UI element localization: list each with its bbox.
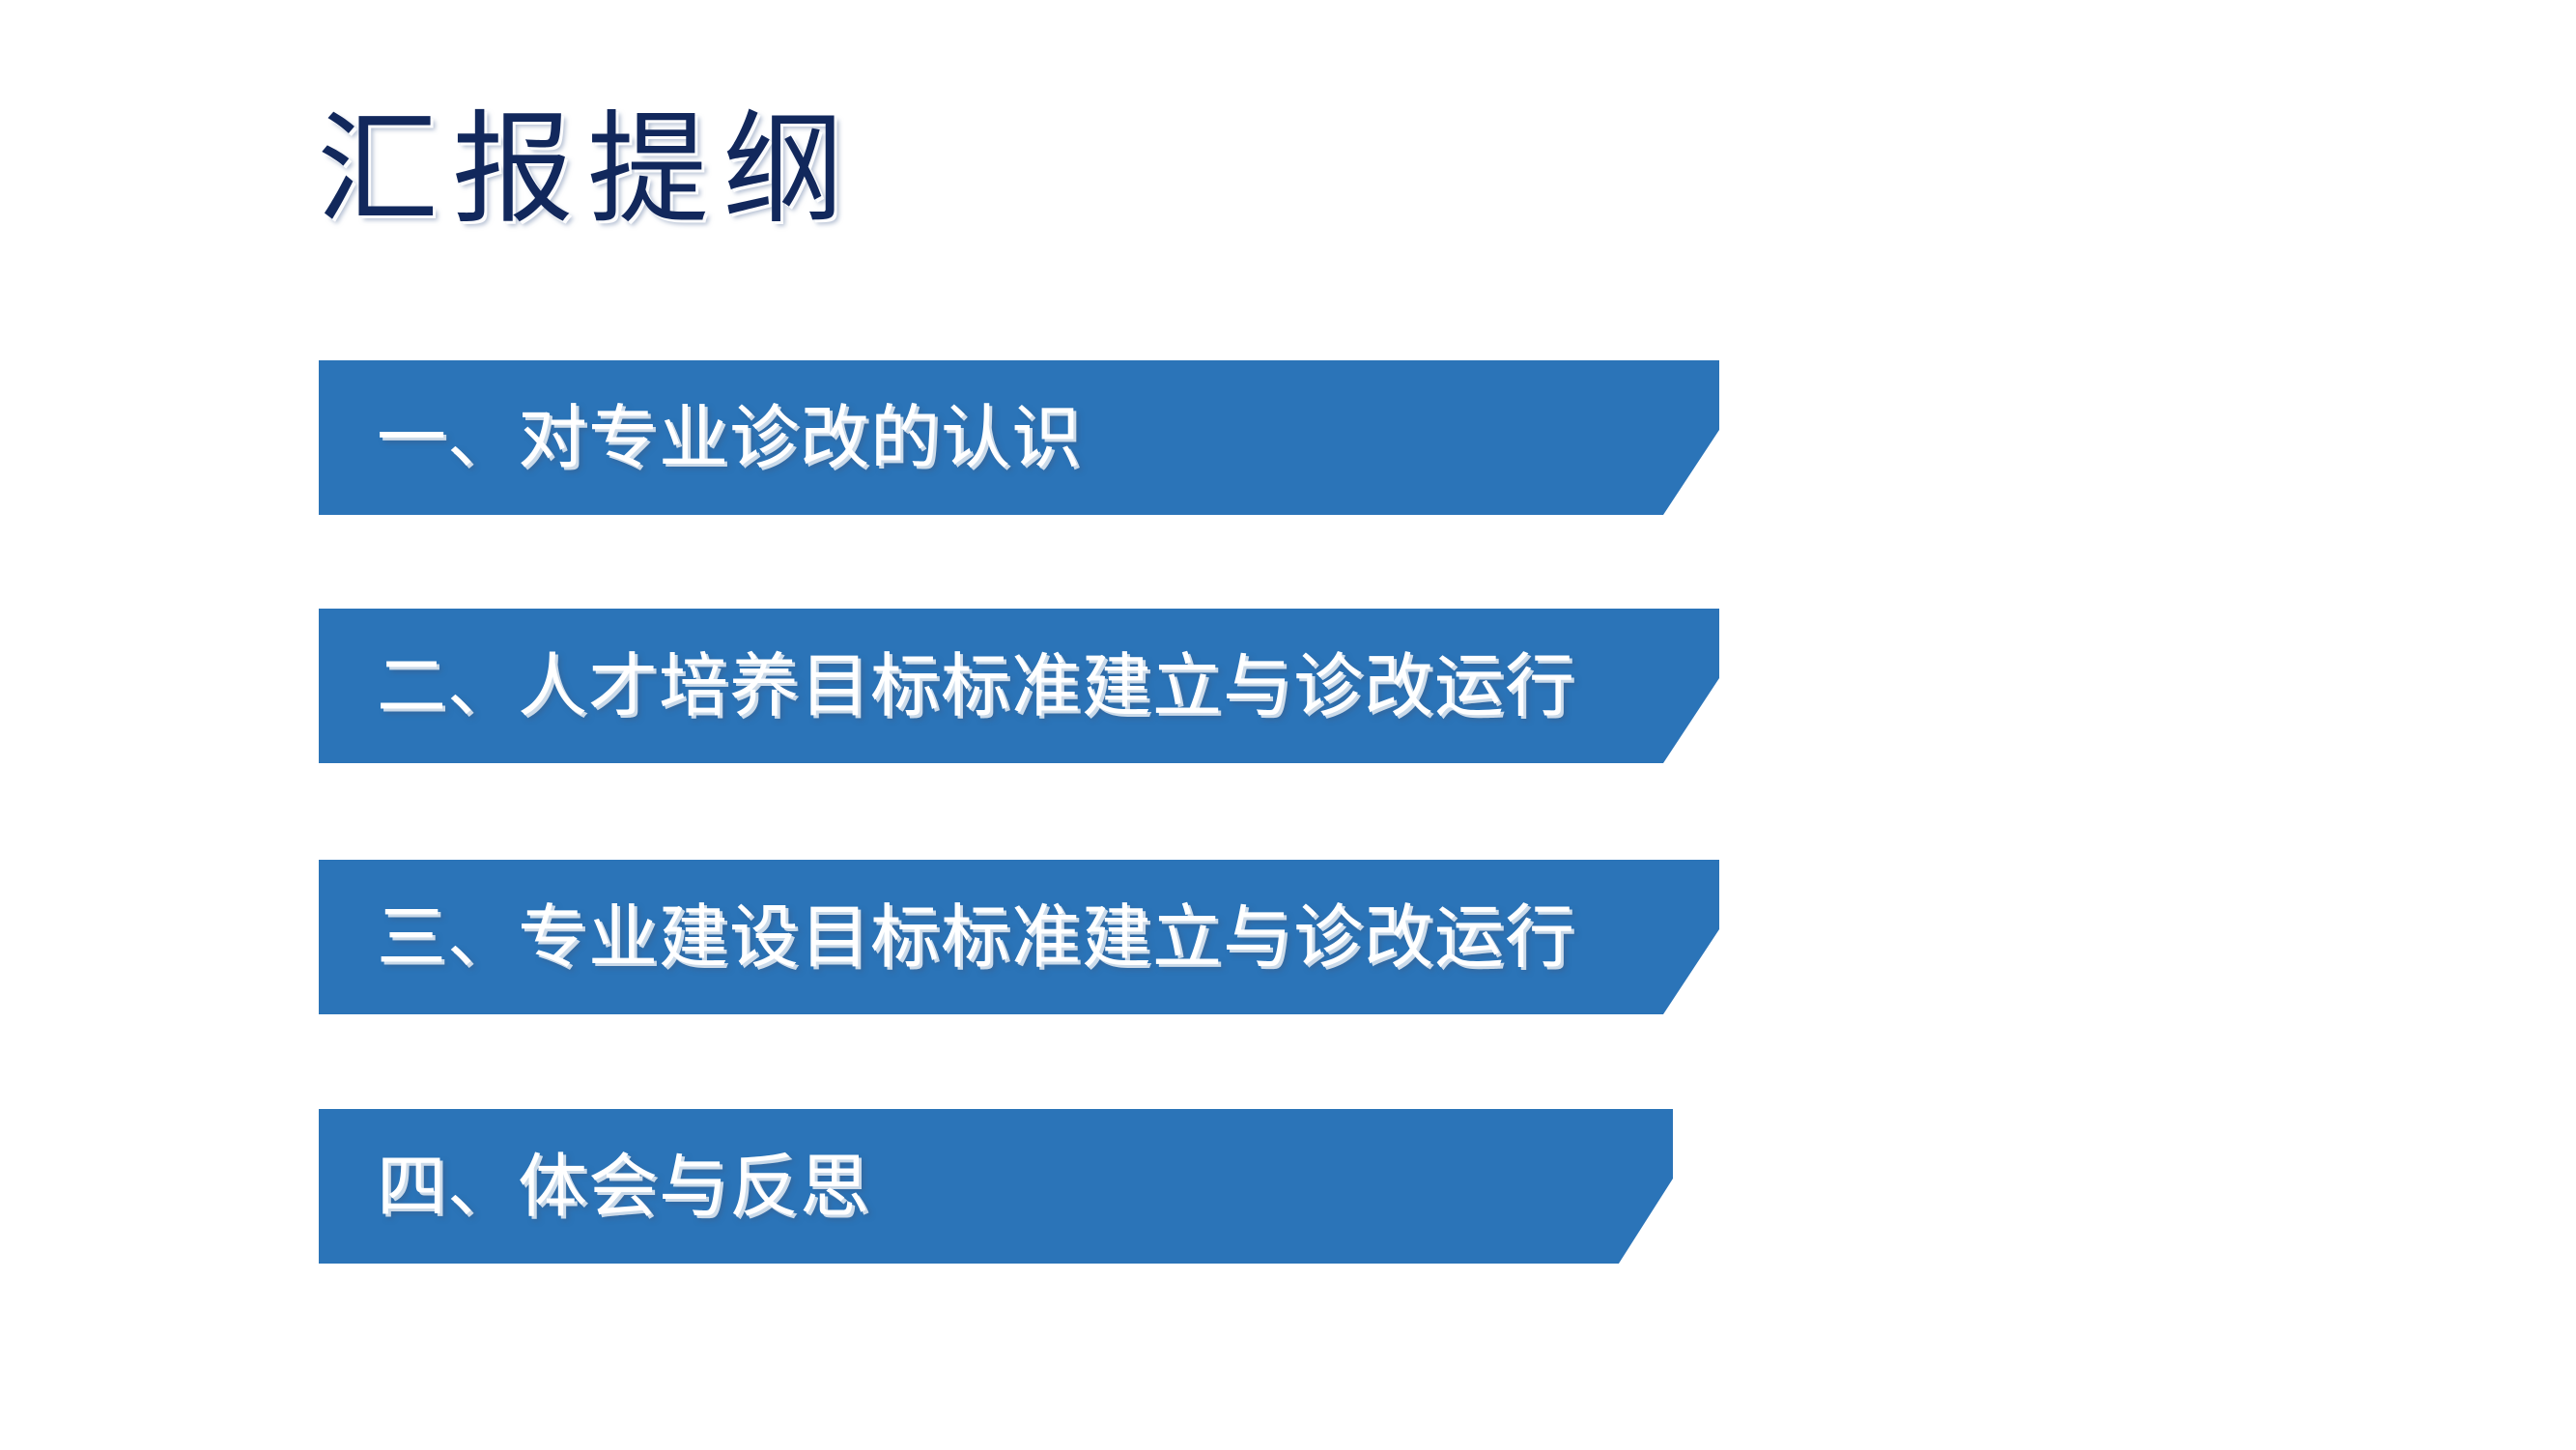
outline-item-label: 四、体会与反思	[377, 1109, 870, 1264]
outline-item-4[interactable]: 四、体会与反思	[319, 1109, 1673, 1264]
outline-item-1[interactable]: 一、对专业诊改的认识	[319, 360, 1719, 515]
outline-list: 一、对专业诊改的认识 二、人才培养目标标准建立与诊改运行 三、专业建设目标标准建…	[0, 0, 2576, 1450]
presentation-slide: 汇报提纲 一、对专业诊改的认识 二、人才培养目标标准建立与诊改运行 三、专业建设…	[0, 0, 2576, 1450]
outline-item-label: 一、对专业诊改的认识	[377, 360, 1082, 515]
outline-item-label: 二、人才培养目标标准建立与诊改运行	[377, 609, 1575, 763]
outline-item-2[interactable]: 二、人才培养目标标准建立与诊改运行	[319, 609, 1719, 763]
outline-item-3[interactable]: 三、专业建设目标标准建立与诊改运行	[319, 860, 1719, 1014]
outline-item-label: 三、专业建设目标标准建立与诊改运行	[377, 860, 1575, 1014]
